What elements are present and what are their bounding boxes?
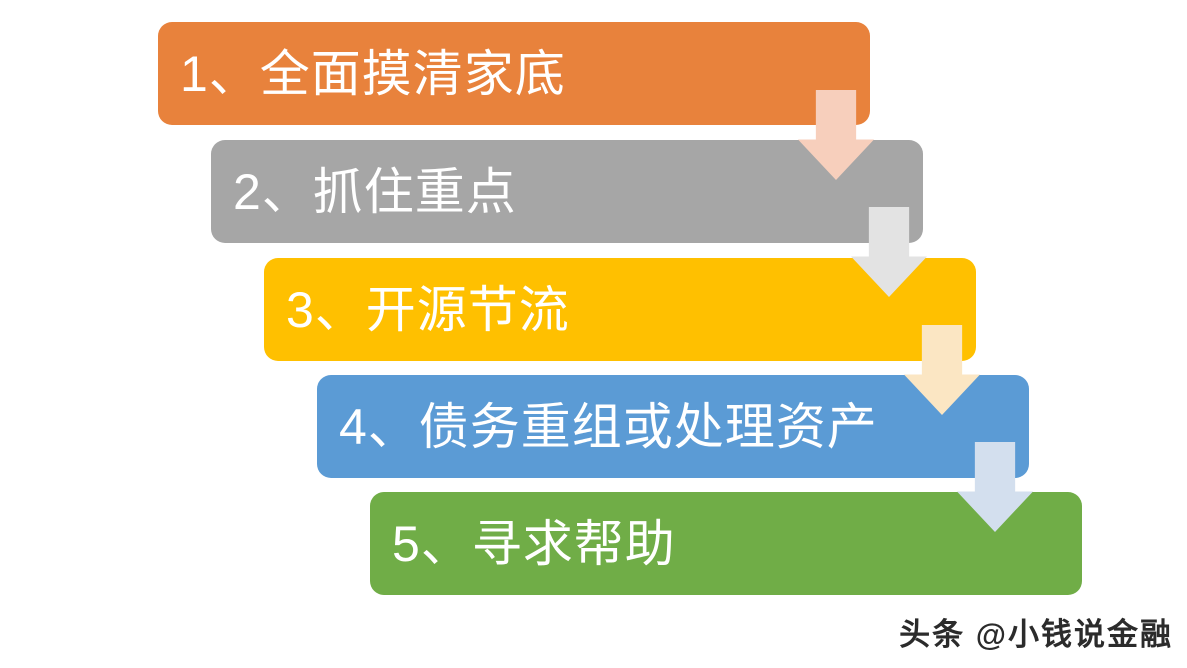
slide-canvas: 1、全面摸清家底 2、抓住重点 3、开源节流 4、债务重组或处理资产 5、寻求帮…	[0, 0, 1187, 668]
step-bar-2-label: 2、抓住重点	[211, 167, 517, 217]
step-bar-3-label: 3、开源节流	[264, 285, 570, 335]
step-bar-4[interactable]: 4、债务重组或处理资产	[317, 375, 1029, 478]
step-bar-4-label: 4、债务重组或处理资产	[317, 402, 878, 452]
step-bar-5[interactable]: 5、寻求帮助	[370, 492, 1082, 595]
step-bar-3[interactable]: 3、开源节流	[264, 258, 976, 361]
watermark-text: 头条 @小钱说金融	[899, 609, 1173, 654]
step-bar-5-label: 5、寻求帮助	[370, 519, 676, 569]
step-bar-1-label: 1、全面摸清家底	[158, 49, 566, 99]
step-bar-1[interactable]: 1、全面摸清家底	[158, 22, 870, 125]
step-bar-2[interactable]: 2、抓住重点	[211, 140, 923, 243]
